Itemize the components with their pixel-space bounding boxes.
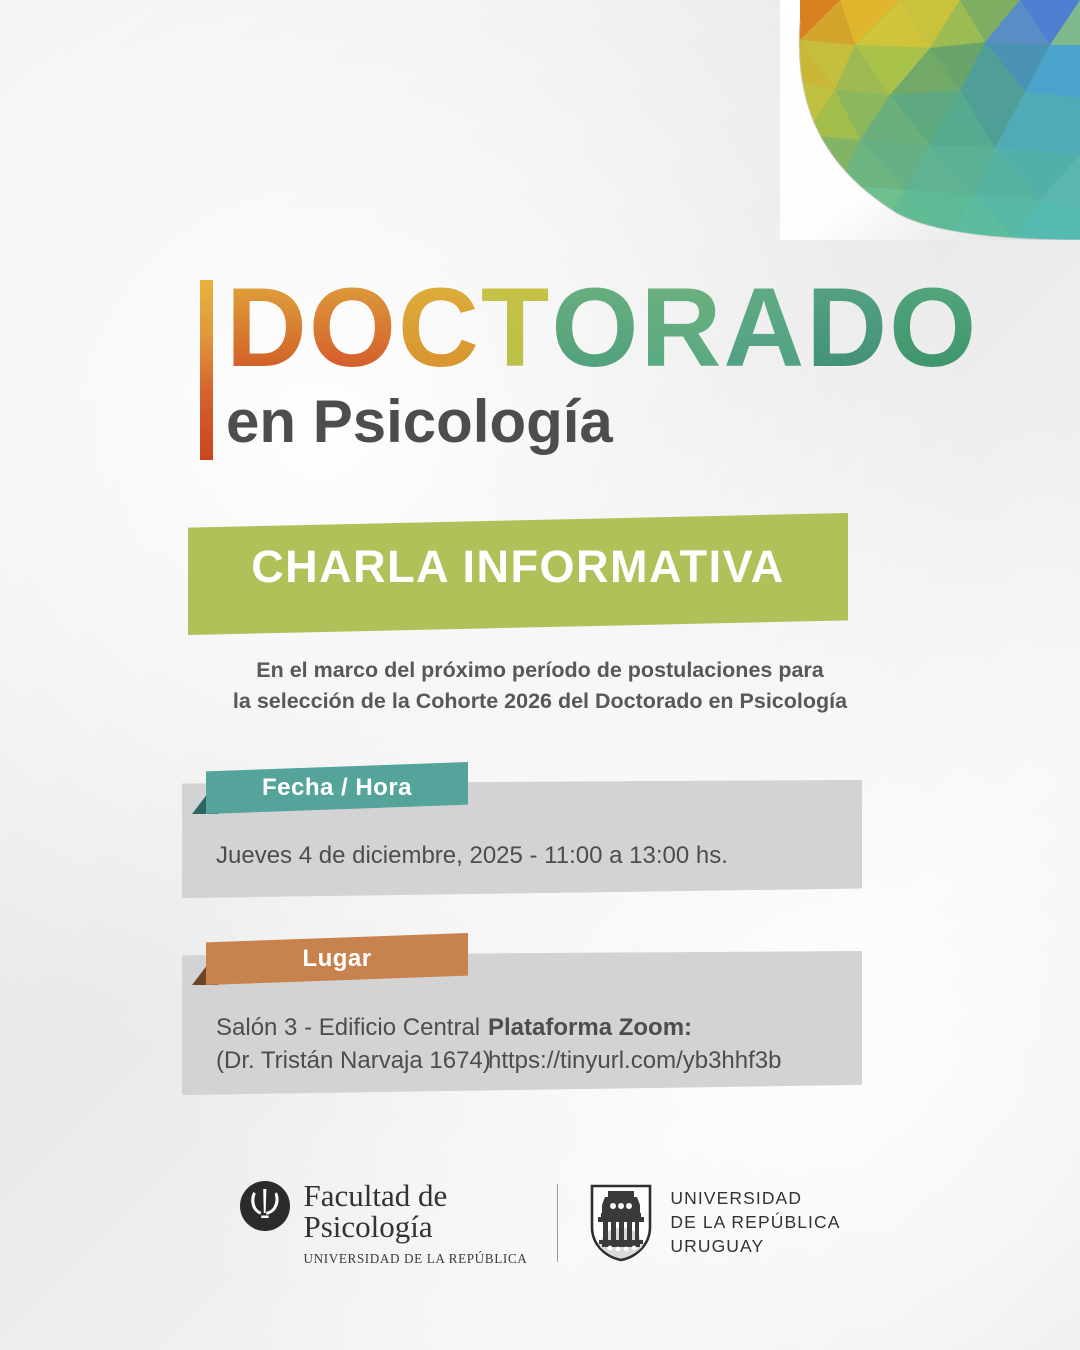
logo-udelar-line-2: DE LA REPÚBLICA — [670, 1212, 840, 1234]
card-lugar-zoom-label: Plataforma Zoom: — [488, 1010, 692, 1046]
logo-fp-line-3: UNIVERSIDAD DE LA REPÚBLICA — [303, 1251, 527, 1267]
title-letter-2: C — [398, 272, 481, 384]
page-curl-corner — [780, 0, 1080, 240]
logo-udelar: UNIVERSIDAD DE LA REPÚBLICA URUGUAY — [588, 1183, 840, 1263]
psi-circle-icon — [239, 1180, 291, 1232]
logo-fp-line-1: Facultad de — [303, 1180, 527, 1211]
udelar-shield-icon — [588, 1183, 654, 1263]
title-letter-4: O — [551, 272, 640, 384]
title-letter-5: R — [640, 272, 723, 384]
card-lugar: Lugar Salón 3 - Edificio Central (Dr. Tr… — [182, 933, 862, 1095]
footer-logos: Facultad de Psicología UNIVERSIDAD DE LA… — [0, 1180, 1080, 1275]
title-letter-0: D — [226, 272, 309, 384]
lead-line-2: la selección de la Cohorte 2026 del Doct… — [140, 686, 940, 717]
page-title: DOCTORADO — [226, 272, 978, 384]
title-letter-6: A — [723, 272, 806, 384]
lead-paragraph: En el marco del próximo período de postu… — [140, 655, 940, 716]
charla-banner-label: CHARLA INFORMATIVA — [188, 541, 848, 593]
logo-udelar-line-3: URUGUAY — [670, 1236, 840, 1258]
card-fecha-hora: Fecha / Hora Jueves 4 de diciembre, 2025… — [182, 762, 862, 898]
title-letter-1: O — [309, 272, 398, 384]
card-lugar-address-line-2: (Dr. Tristán Narvaja 1674) — [216, 1043, 491, 1079]
title-accent-bar — [200, 280, 213, 460]
ribbon-label-lugar: Lugar — [206, 933, 468, 985]
card-lugar-address-line-1: Salón 3 - Edificio Central — [216, 1010, 480, 1046]
logo-udelar-line-1: UNIVERSIDAD — [670, 1188, 840, 1210]
title-letter-3: T — [481, 272, 551, 384]
card-fecha-hora-text: Jueves 4 de diciembre, 2025 - 11:00 a 13… — [216, 838, 728, 874]
lead-line-1: En el marco del próximo período de postu… — [140, 655, 940, 686]
page-subtitle: en Psicología — [226, 392, 613, 452]
title-letter-8: O — [889, 272, 978, 384]
logo-facultad-psicologia: Facultad de Psicología UNIVERSIDAD DE LA… — [239, 1180, 527, 1267]
charla-banner: CHARLA INFORMATIVA — [188, 513, 848, 635]
logo-fp-line-2: Psicología — [303, 1211, 527, 1244]
footer-divider — [557, 1184, 558, 1262]
card-lugar-zoom-link[interactable]: https://tinyurl.com/yb3hhf3b — [488, 1043, 781, 1079]
title-letter-7: D — [806, 272, 889, 384]
poster-root: DOCTORADO en Psicología CHARLA INFORMATI… — [0, 0, 1080, 1350]
ribbon-label-fecha-hora: Fecha / Hora — [206, 762, 468, 814]
